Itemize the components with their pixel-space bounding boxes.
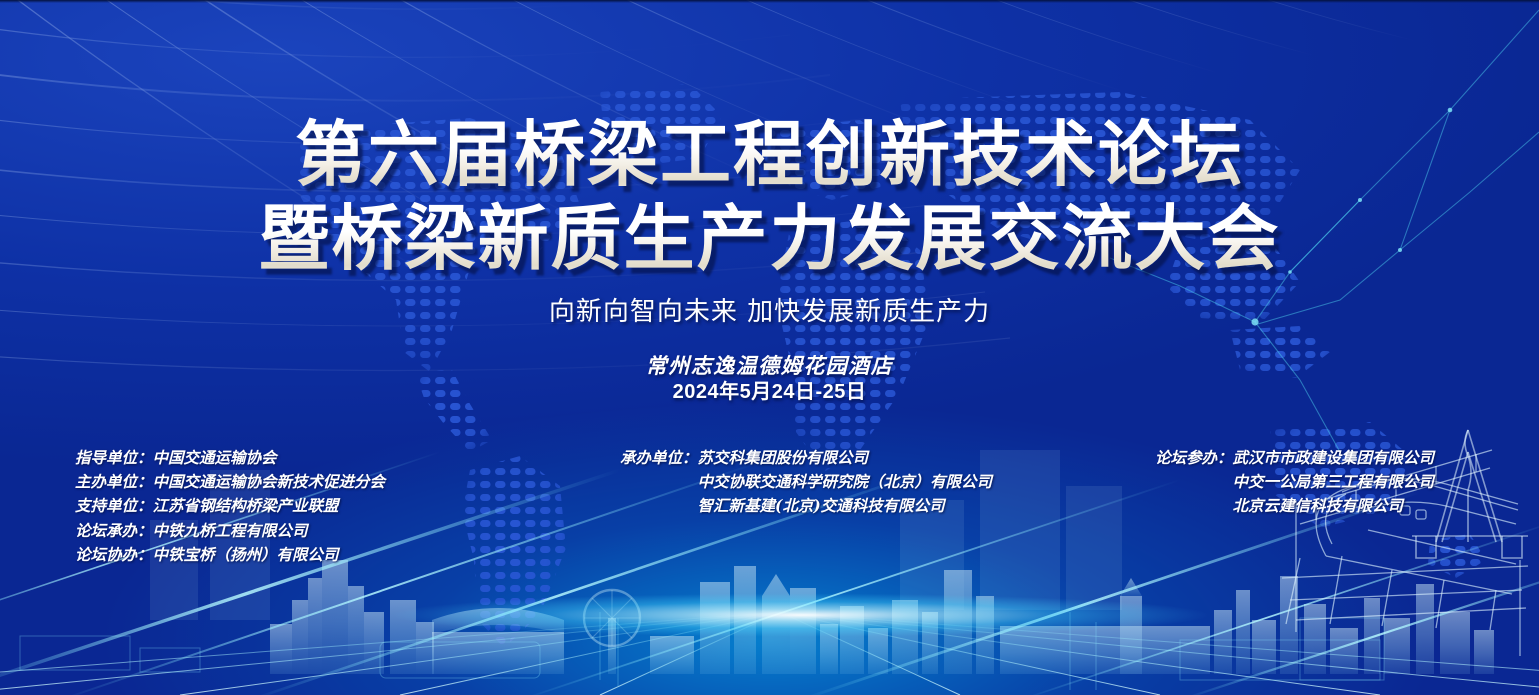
organizer-label: 主办单位： <box>75 470 153 494</box>
organizer-value: 中铁九桥工程有限公司 <box>153 519 308 543</box>
organizer-label: 论坛协办： <box>75 543 153 567</box>
organizer-value: 武汉市市政建设集团有限公司 <box>1233 446 1435 470</box>
organizer-value: 中铁宝桥（扬州）有限公司 <box>153 543 339 567</box>
title-line-1: 第六届桥梁工程创新技术论坛 <box>0 112 1539 196</box>
organizer-row: 支持单位：江苏省钢结构桥梁产业联盟 <box>75 494 385 518</box>
organizer-row: 论坛参办：中交一公局第三工程有限公司 <box>1155 470 1434 494</box>
organizer-label: 指导单位： <box>75 446 153 470</box>
organizer-column-right: 论坛参办：武汉市市政建设集团有限公司论坛参办：中交一公局第三工程有限公司论坛参办… <box>1155 446 1434 519</box>
organizer-row: 指导单位：中国交通运输协会 <box>75 446 385 470</box>
organizer-row: 承办单位：中交协联交通科学研究院（北京）有限公司 <box>620 470 992 494</box>
page-title: 第六届桥梁工程创新技术论坛 暨桥梁新质生产力发展交流大会 <box>0 112 1539 280</box>
organizer-value: 北京云建信科技有限公司 <box>1233 494 1404 518</box>
banner-content: 第六届桥梁工程创新技术论坛 暨桥梁新质生产力发展交流大会 向新向智向未来 加快发… <box>0 0 1539 695</box>
organizer-row: 论坛参办：北京云建信科技有限公司 <box>1155 494 1434 518</box>
organizer-row: 论坛承办：中铁九桥工程有限公司 <box>75 519 385 543</box>
organizer-row: 论坛参办：武汉市市政建设集团有限公司 <box>1155 446 1434 470</box>
organizer-value: 中交协联交通科学研究院（北京）有限公司 <box>698 470 993 494</box>
venue-date: 2024年5月24日-25日 <box>0 379 1539 405</box>
organizer-column-left: 指导单位：中国交通运输协会主办单位：中国交通运输协会新技术促进分会支持单位：江苏… <box>75 446 385 567</box>
organizer-value: 中交一公局第三工程有限公司 <box>1233 470 1435 494</box>
organizer-row: 主办单位：中国交通运输协会新技术促进分会 <box>75 470 385 494</box>
venue-name: 常州志逸温德姆花园酒店 <box>0 352 1539 379</box>
organizer-column-middle: 承办单位：苏交科集团股份有限公司承办单位：中交协联交通科学研究院（北京）有限公司… <box>620 446 992 519</box>
subtitle: 向新向智向未来 加快发展新质生产力 <box>0 296 1539 328</box>
organizer-label: 论坛参办： <box>1155 446 1233 470</box>
organizer-value: 江苏省钢结构桥梁产业联盟 <box>153 494 339 518</box>
venue-block: 常州志逸温德姆花园酒店 2024年5月24日-25日 <box>0 352 1539 405</box>
organizer-value: 中国交通运输协会新技术促进分会 <box>153 470 386 494</box>
conference-banner: 第六届桥梁工程创新技术论坛 暨桥梁新质生产力发展交流大会 向新向智向未来 加快发… <box>0 0 1539 695</box>
organizer-value: 苏交科集团股份有限公司 <box>698 446 869 470</box>
organizer-label: 支持单位： <box>75 494 153 518</box>
organizer-value: 中国交通运输协会 <box>153 446 277 470</box>
organizer-label: 承办单位： <box>620 446 698 470</box>
organizer-value: 智汇新基建(北京)交通科技有限公司 <box>698 494 945 518</box>
title-line-2: 暨桥梁新质生产力发展交流大会 <box>0 196 1539 280</box>
organizer-row: 承办单位：智汇新基建(北京)交通科技有限公司 <box>620 494 992 518</box>
organizer-label: 论坛承办： <box>75 519 153 543</box>
organizer-row: 论坛协办：中铁宝桥（扬州）有限公司 <box>75 543 385 567</box>
organizer-row: 承办单位：苏交科集团股份有限公司 <box>620 446 992 470</box>
